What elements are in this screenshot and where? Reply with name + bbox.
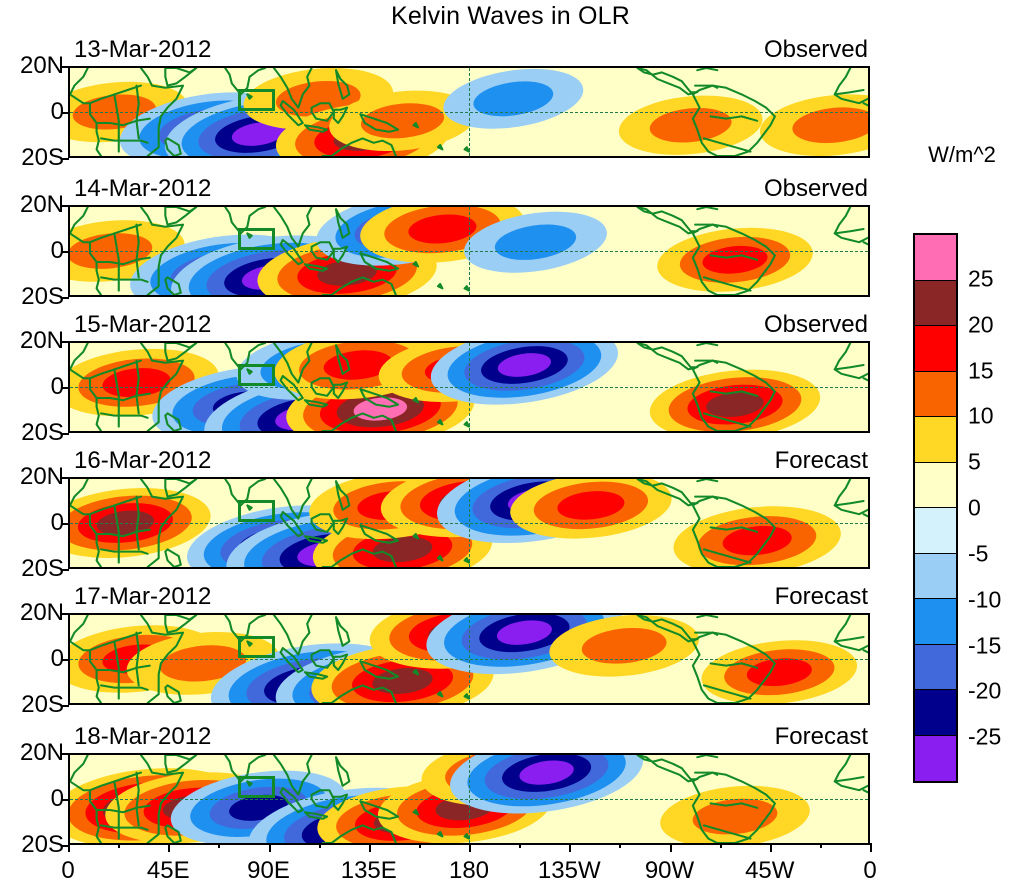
colorbar — [913, 233, 958, 783]
x-axis-minor-tick — [519, 843, 521, 848]
x-axis-label: 90E — [247, 857, 290, 885]
y-axis-tick — [62, 569, 69, 571]
colorbar-band — [915, 690, 956, 736]
y-axis-label: 20S — [0, 831, 64, 859]
x-axis-tick — [770, 843, 772, 852]
y-axis-tick — [62, 297, 69, 299]
y-axis-label: 0 — [0, 509, 64, 537]
y-axis-tick — [62, 705, 69, 707]
y-axis-label: 20N — [0, 463, 64, 491]
map-panel — [68, 66, 870, 158]
x-axis-minor-tick — [820, 843, 822, 848]
region-box-marker — [238, 364, 275, 386]
y-axis-label: 0 — [0, 98, 64, 126]
x-axis-label: 135W — [538, 857, 601, 885]
y-axis-label: 0 — [0, 785, 64, 813]
colorbar-band — [915, 736, 956, 782]
y-axis-tick — [62, 112, 69, 114]
panel-kind-label: Forecast — [775, 447, 868, 475]
colorbar-tick-label: 25 — [968, 265, 994, 292]
colorbar-band — [915, 235, 956, 281]
colorbar-tick-label: 5 — [968, 449, 981, 476]
y-axis-tick — [62, 477, 69, 479]
y-axis-tick — [62, 799, 69, 801]
panel-kind-label: Forecast — [775, 723, 868, 751]
map-panel — [68, 613, 870, 705]
y-axis-label: 20S — [0, 144, 64, 172]
map-panel — [68, 341, 870, 433]
x-axis-minor-tick — [218, 843, 220, 848]
colorbar-tick-label: 10 — [968, 403, 994, 430]
map-panel — [68, 477, 870, 569]
x-axis-label: 0 — [61, 857, 74, 885]
y-axis-label: 20S — [0, 419, 64, 447]
dateline-marker — [469, 479, 470, 567]
y-axis-label: 20N — [0, 599, 64, 627]
x-axis-tick — [369, 843, 371, 852]
x-axis-minor-tick — [118, 843, 120, 848]
colorbar-tick-label: -5 — [968, 540, 988, 567]
y-axis-label: 20N — [0, 191, 64, 219]
colorbar-tick-label: 0 — [968, 495, 981, 522]
x-axis-minor-tick — [619, 843, 621, 848]
y-axis-tick — [62, 753, 69, 755]
colorbar-tick-label: -15 — [968, 632, 1001, 659]
panel-kind-label: Forecast — [775, 583, 868, 611]
x-axis-tick — [870, 843, 872, 852]
map-panel — [68, 205, 870, 297]
y-axis-tick — [62, 251, 69, 253]
x-axis-label: 135E — [341, 857, 397, 885]
y-axis-label: 0 — [0, 373, 64, 401]
region-box-marker — [238, 89, 275, 111]
x-axis-minor-tick — [720, 843, 722, 848]
map-panel — [68, 753, 870, 845]
x-axis-tick — [168, 843, 170, 852]
x-axis-label: 90W — [645, 857, 694, 885]
x-axis-label: 0 — [863, 857, 876, 885]
colorbar-band — [915, 281, 956, 327]
y-axis-tick — [62, 66, 69, 68]
panel-date-label: 17-Mar-2012 — [74, 583, 211, 611]
x-axis-tick — [269, 843, 271, 852]
region-box-marker — [238, 500, 275, 522]
panel-date-label: 15-Mar-2012 — [74, 311, 211, 339]
x-axis-minor-tick — [419, 843, 421, 848]
dateline-marker — [469, 207, 470, 295]
x-axis-label: 180 — [449, 857, 489, 885]
panel-date-label: 13-Mar-2012 — [74, 36, 211, 64]
colorbar-band — [915, 372, 956, 418]
panel-kind-label: Observed — [764, 311, 868, 339]
dateline-marker — [469, 68, 470, 156]
colorbar-band — [915, 326, 956, 372]
dateline-marker — [469, 755, 470, 843]
x-axis-tick — [569, 843, 571, 852]
x-axis-label: 45E — [147, 857, 190, 885]
y-axis-tick — [62, 433, 69, 435]
y-axis-tick — [62, 158, 69, 160]
y-axis-label: 20S — [0, 555, 64, 583]
x-axis-tick — [670, 843, 672, 852]
panel-date-label: 18-Mar-2012 — [74, 723, 211, 751]
y-axis-label: 20N — [0, 327, 64, 355]
y-axis-tick — [62, 523, 69, 525]
y-axis-label: 20N — [0, 739, 64, 767]
colorbar-tick-label: -10 — [968, 586, 1001, 613]
colorbar-band — [915, 599, 956, 645]
colorbar-units-label: W/m^2 — [903, 142, 1021, 168]
y-axis-label: 20S — [0, 283, 64, 311]
y-axis-label: 20N — [0, 52, 64, 80]
y-axis-tick — [62, 387, 69, 389]
colorbar-band — [915, 463, 956, 509]
colorbar-tick-labels: 2520151050-5-10-15-20-25 — [968, 233, 1021, 783]
panel-kind-label: Observed — [764, 175, 868, 203]
dateline-marker — [469, 615, 470, 703]
y-axis-label: 0 — [0, 237, 64, 265]
colorbar-band — [915, 417, 956, 463]
y-axis-tick — [62, 659, 69, 661]
x-axis-tick — [469, 843, 471, 852]
y-axis-tick — [62, 341, 69, 343]
dateline-marker — [469, 343, 470, 431]
y-axis-label: 0 — [0, 645, 64, 673]
x-axis-label: 45W — [745, 857, 794, 885]
colorbar-tick-label: 15 — [968, 357, 994, 384]
region-box-marker — [238, 636, 275, 658]
panel-date-label: 16-Mar-2012 — [74, 447, 211, 475]
panel-kind-label: Observed — [764, 36, 868, 64]
page-title: Kelvin Waves in OLR — [0, 2, 1021, 31]
y-axis-label: 20S — [0, 691, 64, 719]
colorbar-tick-label: -20 — [968, 678, 1001, 705]
colorbar-tick-label: -25 — [968, 724, 1001, 751]
x-axis: 045E90E135E180135W90W45W0 — [68, 843, 870, 887]
colorbar-band — [915, 554, 956, 600]
colorbar-band — [915, 645, 956, 691]
region-box-marker — [238, 228, 275, 250]
region-box-marker — [238, 776, 275, 798]
y-axis-tick — [62, 613, 69, 615]
colorbar-band — [915, 508, 956, 554]
x-axis-tick — [68, 843, 70, 852]
panel-date-label: 14-Mar-2012 — [74, 175, 211, 203]
y-axis-tick — [62, 205, 69, 207]
x-axis-minor-tick — [319, 843, 321, 848]
colorbar-tick-label: 20 — [968, 311, 994, 338]
